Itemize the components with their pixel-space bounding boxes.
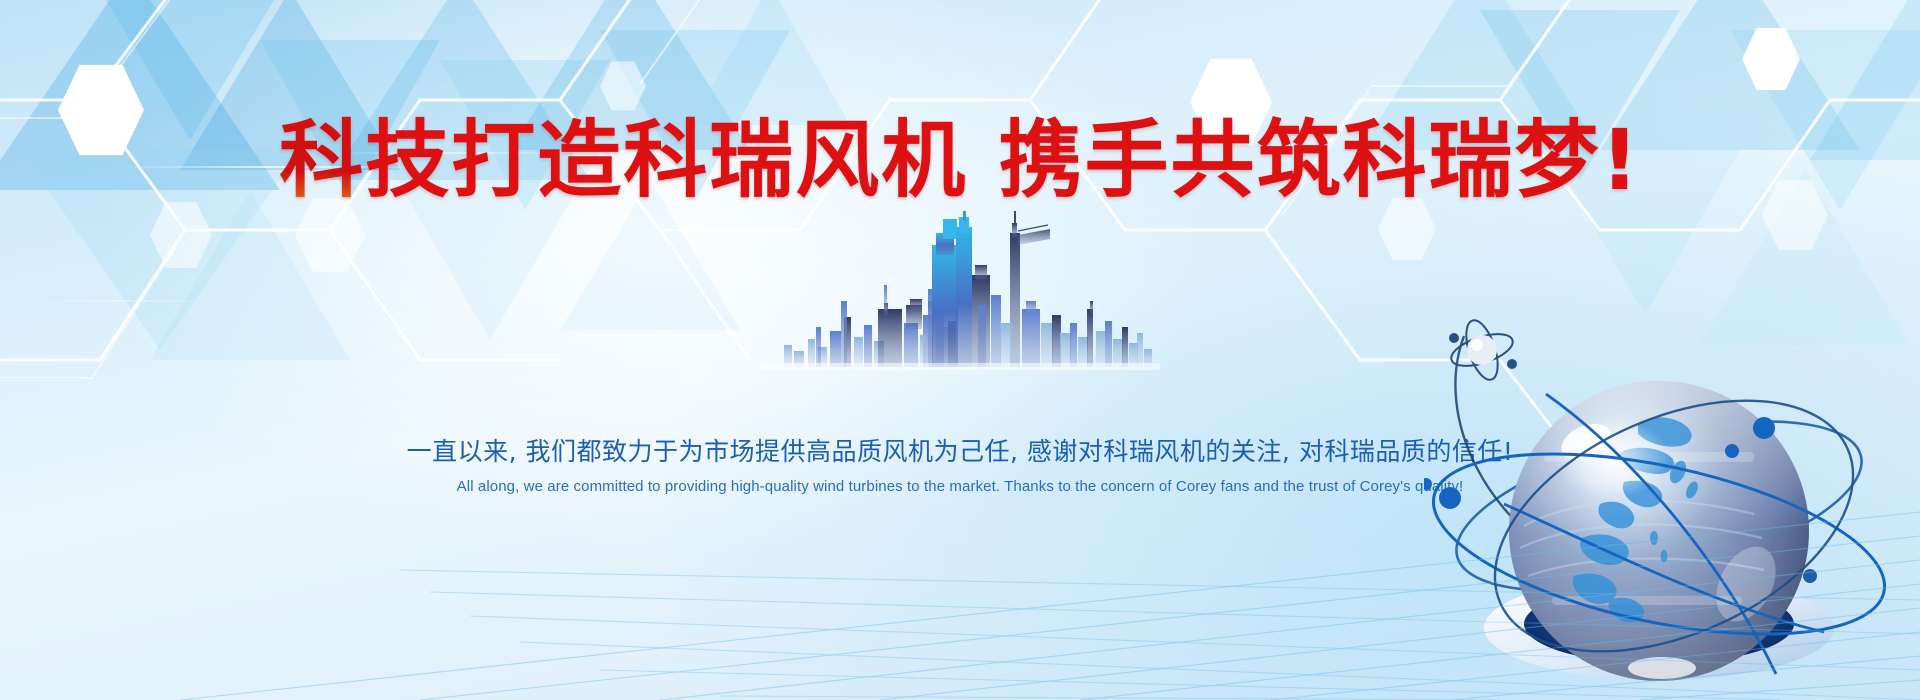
orbit-node	[1753, 417, 1775, 439]
promo-banner: 科技打造科瑞风机 携手共筑科瑞梦!	[0, 0, 1920, 700]
city-skyline-graphic	[760, 205, 1160, 370]
perspective-floor-grid	[0, 450, 1920, 700]
headline-rest: 技打造科瑞风机 携手共筑科瑞梦!	[365, 111, 1641, 209]
headline-lead-char: 科	[279, 111, 365, 209]
atom-icon	[1448, 317, 1517, 384]
light-streak	[20, 300, 220, 302]
page-title: 科技打造科瑞风机 携手共筑科瑞梦!	[0, 118, 1920, 202]
